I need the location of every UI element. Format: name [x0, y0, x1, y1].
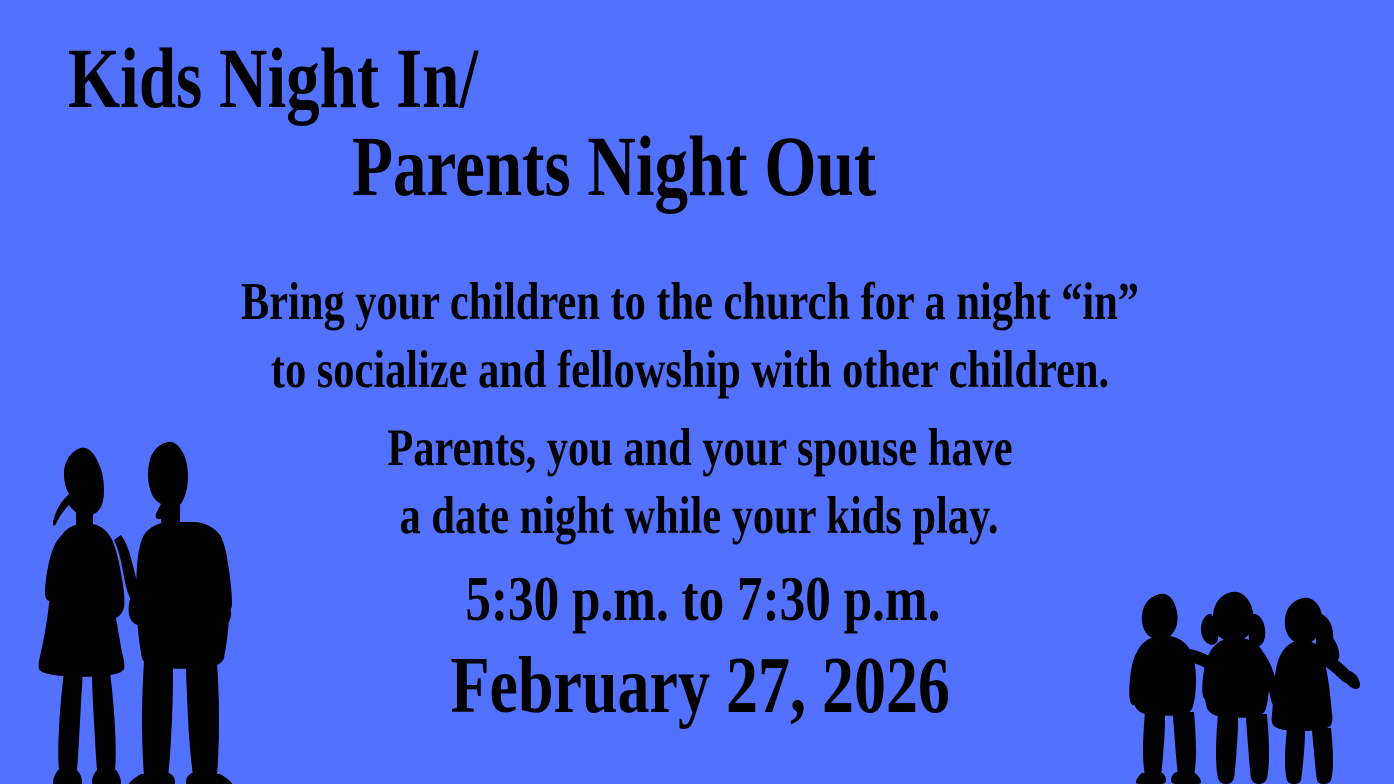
event-flyer: Kids Night In/ Parents Night Out Bring y… [0, 0, 1394, 784]
description-line-2: to socialize and fellowship with other c… [127, 336, 1253, 404]
couple-holding-hands-silhouette-icon [28, 440, 243, 784]
event-time-text: 5:30 p.m. to 7:30 p.m. [466, 562, 941, 636]
flyer-title: Kids Night In/ Parents Night Out [0, 34, 1394, 210]
description-line-1: Bring your children to the church for a … [127, 268, 1253, 336]
description-paragraph-children: Bring your children to the church for a … [0, 268, 1394, 404]
title-line-2: Parents Night Out [352, 122, 1165, 210]
three-children-holding-hands-silhouette-icon [1128, 588, 1364, 784]
event-date-text: February 27, 2026 [450, 640, 950, 732]
description-line-3: Parents, you and your spouse have [145, 414, 1255, 482]
title-line-1: Kids Night In/ [68, 34, 1102, 122]
description-line-4: a date night while your kids play. [143, 482, 1255, 550]
